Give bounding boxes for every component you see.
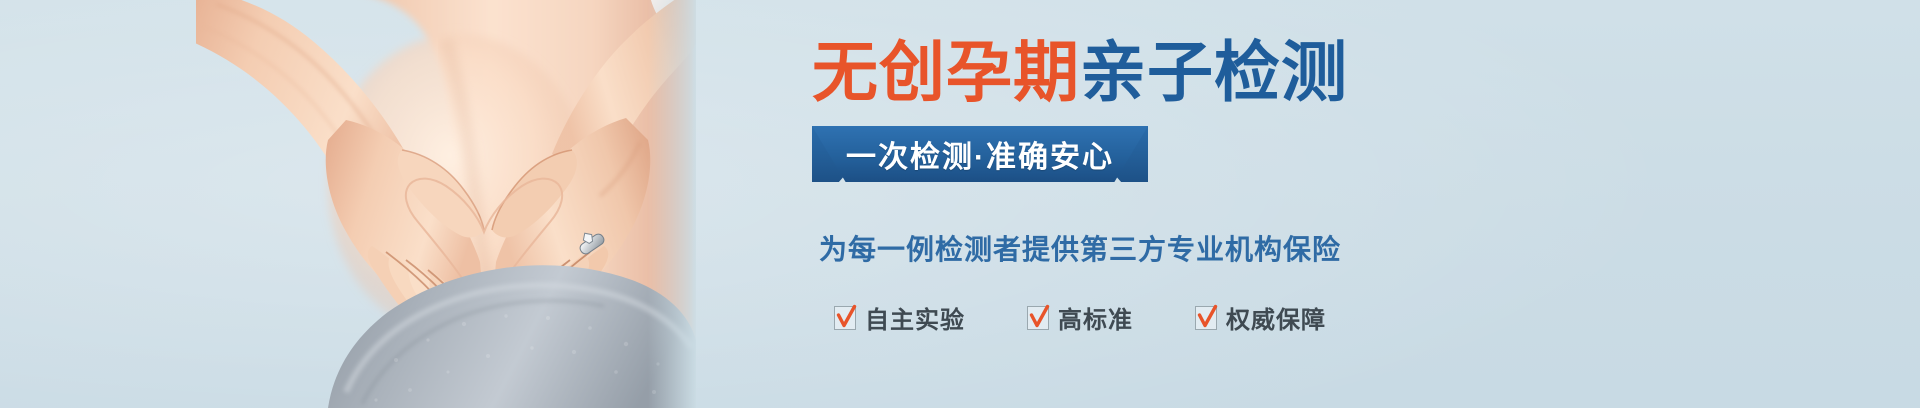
- feature-label: 自主实验: [865, 300, 965, 335]
- check-icon: [1027, 306, 1049, 330]
- feature-list: 自主实验 高标准 权威保障: [760, 300, 1400, 335]
- copy-block: 无创孕期亲子检测 一次检测·准确安心 为每一例检测者提供第三方专业机构保险 自主…: [760, 0, 1400, 408]
- pregnant-belly-hands-heart-photo: [196, 0, 696, 408]
- tagline-ribbon: 一次检测·准确安心: [812, 126, 1148, 182]
- subline: 为每一例检测者提供第三方专业机构保险: [760, 228, 1400, 268]
- feature-label: 权威保障: [1226, 300, 1326, 335]
- feature-item: 自主实验: [834, 300, 965, 335]
- ribbon-label: 一次检测·准确安心: [846, 132, 1114, 176]
- feature-item: 权威保障: [1195, 300, 1326, 335]
- headline-blue-part: 亲子检测: [1080, 35, 1348, 109]
- feature-item: 高标准: [1027, 300, 1133, 335]
- check-icon: [1195, 306, 1217, 330]
- feature-label: 高标准: [1058, 300, 1133, 335]
- promo-banner: 无创孕期亲子检测 一次检测·准确安心 为每一例检测者提供第三方专业机构保险 自主…: [0, 0, 1920, 408]
- headline-orange-part: 无创孕期: [812, 35, 1080, 109]
- headline: 无创孕期亲子检测: [760, 36, 1400, 108]
- ribbon-body: 一次检测·准确安心: [812, 126, 1148, 182]
- check-icon: [834, 306, 856, 330]
